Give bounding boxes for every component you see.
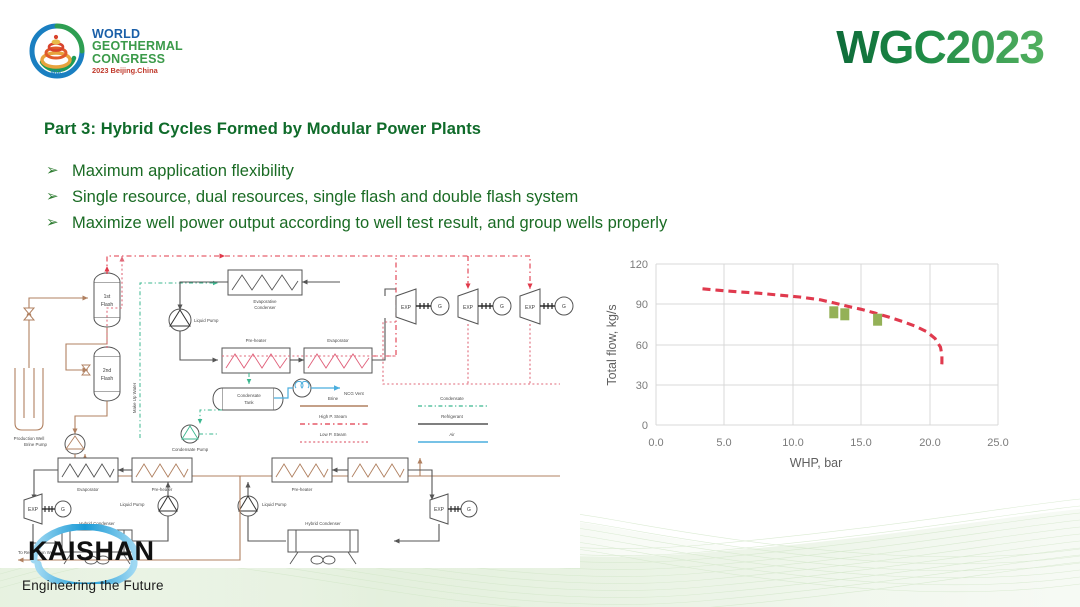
label-brine-pump: Brine Pump (24, 442, 47, 447)
label-liquid-pump-left: Liquid Pump (120, 502, 145, 507)
condensate-tank: Condensate Tank (200, 373, 283, 424)
wgc-logo: WGC WORLD GEOTHERMAL CONGRESS 2023 Beiji… (28, 16, 178, 86)
chart-y-axis-label: Total flow, kg/s (605, 304, 619, 385)
pre-heater-right (272, 458, 332, 482)
label-expander-1: EXP (401, 305, 412, 311)
label-generator-2: G (500, 304, 504, 310)
chart-series-area (703, 289, 942, 368)
label-flash2-sub: Flash (101, 376, 113, 382)
x-tick-20: 20.0 (919, 437, 940, 449)
bullet-list: ➢ Maximum application flexibility ➢ Sing… (46, 160, 946, 238)
label-evaporator-upper: Evaporator (327, 338, 349, 343)
label-expander-2: EXP (463, 305, 474, 311)
kaishan-logo: KAISHAN Engineering the Future (14, 524, 189, 596)
label-pre-heater-right: Pre-heater (292, 487, 313, 492)
x-tick-10: 10.0 (782, 437, 803, 449)
well-test-point-marker (829, 306, 838, 318)
legend-label-brine: Brine (328, 396, 339, 401)
label-condensate-pump: Condensate Pump (172, 447, 209, 452)
y-tick-0: 0 (642, 420, 648, 432)
liquid-pump-upper: Liquid Pump (169, 309, 219, 360)
label-evaporator-left: Evaporator (77, 487, 99, 492)
legend-label-air: Air (449, 432, 455, 437)
label-expander-right: EXP (434, 507, 445, 513)
legend-label-condensate: Condensate (440, 396, 464, 401)
slide-root: WGC WORLD GEOTHERMAL CONGRESS 2023 Beiji… (0, 0, 1080, 607)
label-pre-heater-upper: Pre-heater (246, 338, 267, 343)
y-tick-60: 60 (636, 340, 648, 352)
arrow-bullet-icon: ➢ (46, 186, 72, 208)
y-tick-90: 90 (636, 299, 648, 311)
whp-total-flow-chart: .tick { font-family:"Liberation Sans", s… (598, 248, 1058, 473)
chart-x-ticks: 0.0 5.0 10.0 15.0 20.0 25.0 (648, 437, 1008, 449)
list-item: ➢ Maximize well power output according t… (46, 212, 946, 234)
label-make-up-water: Make Up Water (132, 382, 137, 413)
well-test-point-marker (840, 308, 849, 320)
wgc-logo-line-4: 2023 Beijing.China (92, 67, 183, 75)
diagram-legend: Brine High P. Steam Low P. Steam Condens… (300, 396, 488, 442)
label-generator-right: G (467, 507, 471, 513)
wgc-logo-wordmark: WORLD GEOTHERMAL CONGRESS 2023 Beijing.C… (92, 28, 183, 75)
label-pre-heater-left: Pre-heater (152, 487, 173, 492)
kaishan-name: KAISHAN (28, 536, 155, 566)
label-expander-left: EXP (28, 507, 39, 513)
hybrid-condenser-right (288, 530, 358, 552)
label-expander-3: EXP (525, 305, 536, 311)
y-tick-120: 120 (630, 259, 648, 271)
page-title: Part 3: Hybrid Cycles Formed by Modular … (44, 120, 481, 139)
ncg-vent: NCG Vent (274, 379, 365, 398)
chart-y-ticks: 120 90 60 30 0 (630, 259, 648, 432)
arrow-bullet-icon: ➢ (46, 212, 72, 234)
label-hybrid-condenser-right: Hybrid Condenser (305, 521, 341, 526)
label-liquid-pump-upper: Liquid Pump (194, 318, 219, 323)
bullet-text: Maximize well power output according to … (72, 212, 667, 234)
x-tick-5: 5.0 (716, 437, 731, 449)
legend-label-refrigerant: Refrigerant (441, 414, 463, 419)
evaporator-left (58, 458, 118, 482)
label-evap-condenser-1: Evaporative (253, 299, 277, 304)
legend-label-high-p-steam: High P. Steam (319, 414, 347, 419)
label-flash1-sub: Flash (101, 302, 113, 308)
orc-loop-right: Pre-heater Liquid Pump EXP G Hybrid Cond… (238, 458, 477, 564)
wgc-logo-mark: WGC (28, 22, 86, 80)
flash-vessel-1: 1st Flash (66, 256, 225, 370)
x-tick-25: 25.0 (987, 437, 1008, 449)
evaporative-condenser: Evaporative Condenser (180, 270, 340, 310)
evaporator-right (348, 458, 408, 482)
label-liquid-pump-right: Liquid Pump (262, 502, 287, 507)
label-flash2: 2nd (103, 368, 112, 374)
deliverability-curve (703, 289, 942, 368)
label-flash1: 1st (104, 294, 111, 300)
kaishan-tagline: Engineering the Future (22, 578, 164, 593)
label-generator-3: G (562, 304, 566, 310)
condensate-pump: Condensate Pump (172, 425, 218, 452)
x-tick-0: 0.0 (648, 437, 663, 449)
chart-x-axis-label: WHP, bar (790, 456, 843, 470)
bullet-text: Single resource, dual resources, single … (72, 186, 578, 208)
list-item: ➢ Single resource, dual resources, singl… (46, 186, 946, 208)
pre-heater-left (132, 458, 192, 482)
label-generator-left: G (61, 507, 65, 513)
legend-label-low-p-steam: Low P. Steam (320, 432, 347, 437)
wgc-logo-line-3: CONGRESS (92, 53, 183, 66)
label-generator-1: G (438, 304, 442, 310)
label-production-well: Production Well (14, 436, 45, 441)
label-condensate-tank-1: Condensate (237, 393, 261, 398)
label-evap-condenser-2: Condenser (254, 305, 276, 310)
list-item: ➢ Maximum application flexibility (46, 160, 946, 182)
label-ncg-vent: NCG Vent (344, 391, 365, 396)
wgc-mark-label: WGC (51, 70, 64, 76)
arrow-bullet-icon: ➢ (46, 160, 72, 182)
turbine-train-2: EXP G (458, 256, 511, 384)
y-tick-30: 30 (636, 380, 648, 392)
bullet-text: Maximum application flexibility (72, 160, 294, 182)
process-flow-diagram: .lbl { font-family:"Liberation Sans", sa… (0, 248, 580, 568)
x-tick-15: 15.0 (850, 437, 871, 449)
label-condensate-tank-2: Tank (244, 400, 254, 405)
well-test-point-marker (873, 314, 882, 326)
wgc2023-wordmark: WGC2023 (836, 20, 1044, 74)
well-test-points (829, 306, 882, 325)
